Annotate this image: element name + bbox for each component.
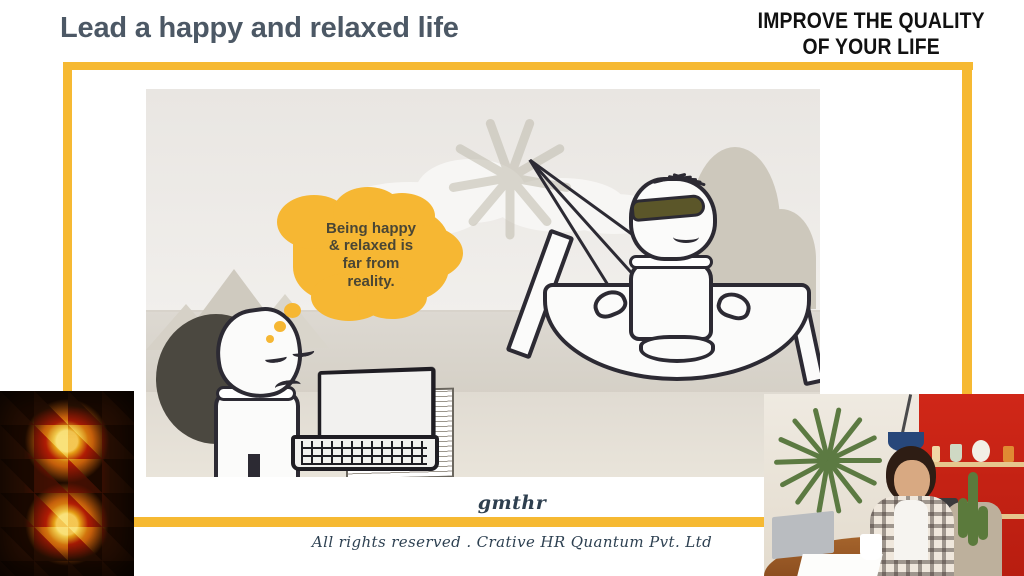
laptop-icon [291, 369, 436, 474]
thought-bubble-tail [284, 303, 301, 318]
main-illustration: Being happy & relaxed is far from realit… [146, 89, 820, 477]
shelf-clock [972, 440, 990, 462]
copyright-text: All rights reserved . Crative HR Quantum… [0, 533, 1024, 551]
frame-bar-top [63, 62, 973, 70]
frame-bar-right [962, 62, 972, 395]
man-body [629, 261, 713, 341]
slide-subtitle-line-2: OF YOUR LIFE [730, 34, 1012, 60]
frame-bar-bottom [63, 517, 853, 527]
man-feet [639, 335, 715, 363]
laptop-screen [318, 367, 436, 444]
slide-canvas: Lead a happy and relaxed life IMPROVE TH… [0, 0, 1024, 576]
thought-bubble-text: Being happy & relaxed is far from realit… [326, 220, 416, 291]
man-hair [653, 167, 719, 189]
slide-subtitle: IMPROVE THE QUALITY OF YOUR LIFE [730, 8, 1012, 60]
thought-bubble-tail [266, 335, 274, 343]
relaxed-man-in-hammock [501, 151, 820, 381]
page-title: Lead a happy and relaxed life [60, 12, 459, 45]
thought-bubble-tail [274, 321, 286, 332]
worker-eye [264, 352, 287, 364]
slide-subtitle-line-1: IMPROVE THE QUALITY [730, 8, 1012, 34]
worker-eye [292, 346, 315, 358]
brand-logo-text: gmthr [0, 492, 1024, 514]
man-smile [673, 231, 699, 243]
laptop-keyboard [301, 441, 427, 465]
shelf-item [1003, 446, 1014, 462]
worker-tie [248, 454, 260, 477]
thought-bubble: Being happy & relaxed is far from realit… [293, 209, 449, 301]
